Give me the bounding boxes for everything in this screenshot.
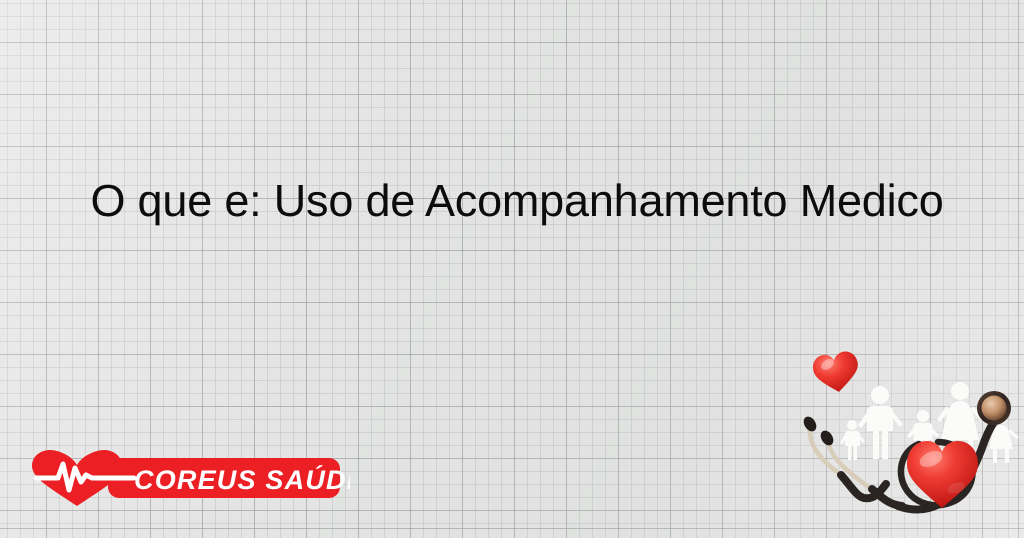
brand-name-text: COREUS SAÚDE [134,464,350,495]
slide-canvas: O que e: Uso de Acompanhamento Medico CO… [0,0,1024,538]
medical-family-care-illustration [786,348,1024,538]
brand-logo: COREUS SAÚDE COREUS SAÚDE [30,448,350,510]
stethoscope-eartip [801,414,836,447]
page-title: O que e: Uso de Acompanhamento Medico [52,172,982,231]
stethoscope-chestpiece-icon [977,391,1011,425]
small-heart-icon [811,350,862,396]
